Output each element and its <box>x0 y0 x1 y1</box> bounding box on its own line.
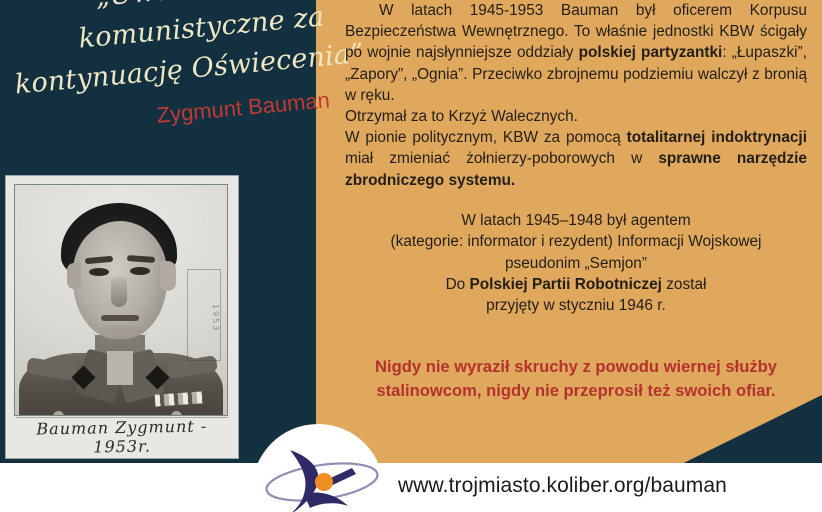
spacer-3 <box>345 336 807 355</box>
centered-agent-line-4: Do Polskiej Partii Robotniczej został <box>345 274 807 295</box>
spacer-2 <box>345 317 807 336</box>
poster-root: „Uważałem idee komunistyczne za kontynua… <box>0 0 822 512</box>
paragraph-indoktrynacja: W pionie politycznym, KBW za pomocą tota… <box>345 127 807 191</box>
photo-chin <box>89 325 151 349</box>
spacer-1 <box>345 191 807 210</box>
p2-text: Otrzymał za to Krzyż Walecznych. <box>345 108 578 125</box>
archive-photo: 1953 Bauman Zygmunt - 1953r. <box>6 176 238 458</box>
photo-image: 1953 <box>14 184 228 416</box>
red-statement-line-1: Nigdy nie wyraził skruchy z powodu wiern… <box>345 355 807 379</box>
l4-pre: Do <box>446 276 470 293</box>
red-statement-line-2: stalinowcom, nigdy nie przeprosił też sw… <box>345 379 807 403</box>
centered-agent-line-3: pseudonim „Semjon” <box>345 253 807 274</box>
photo-button-left <box>53 411 64 416</box>
paragraph-krzyz-walecznych: Otrzymał za to Krzyż Walecznych. <box>345 106 807 127</box>
photo-caption: Bauman Zygmunt - 1953r. <box>6 416 239 458</box>
paragraph-kbw-officer: W latach 1945-1953 Bauman był oficerem K… <box>345 0 807 106</box>
photo-ear-left <box>67 263 81 289</box>
p3-seg-3: miał zmieniać żołnierzy-poborowych w <box>345 150 658 167</box>
photo-eye-left <box>89 268 109 276</box>
l4-bold-ppr: Polskiej Partii Robotniczej <box>470 276 662 293</box>
koliber-logo[interactable]: Koliber <box>252 424 384 512</box>
photo-nose <box>111 277 127 307</box>
photo-shirt <box>107 351 133 385</box>
body-text-column: W latach 1945-1953 Bauman był oficerem K… <box>345 0 807 403</box>
koliber-logo-mark: Koliber <box>252 424 384 512</box>
photo-ear-right <box>160 261 176 291</box>
photo-eye-right <box>130 267 150 275</box>
centered-agent-line-1: W latach 1945–1948 był agentem <box>345 210 807 231</box>
footer-url[interactable]: www.trojmiasto.koliber.org/bauman <box>398 474 727 498</box>
centered-agent-line-2: (kategorie: informator i rezydent) Infor… <box>345 231 807 252</box>
p3-bold-totalitarna-indoktrynacja: totalitarnej indoktrynacji <box>627 129 807 146</box>
p1-bold-polska-partyzantka: polskiej partyzantki <box>579 44 723 61</box>
photo-button-right <box>171 411 182 416</box>
photo-mouth <box>101 315 139 321</box>
centered-agent-line-5: przyjęty w styczniu 1946 r. <box>345 295 807 316</box>
l4-post: został <box>662 276 706 293</box>
p3-seg-1: W pionie politycznym, KBW za pomocą <box>345 129 627 146</box>
photo-archive-stamp: 1953 <box>187 269 221 361</box>
